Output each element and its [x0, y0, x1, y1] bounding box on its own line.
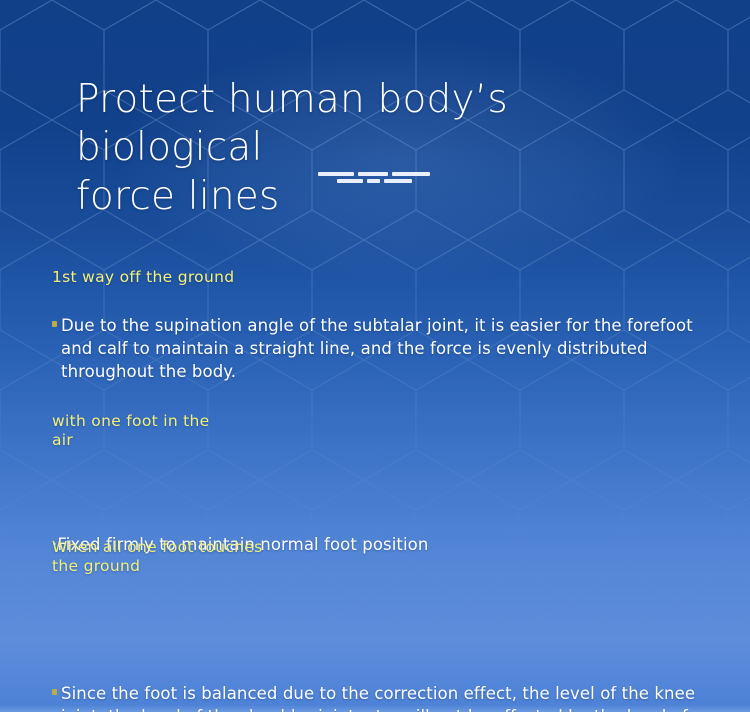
page-title: Protect human body’s biological force li… — [76, 76, 696, 221]
section-heading-3: When all one foot touches the ground — [52, 538, 704, 577]
section-1-body: Due to the supination angle of the subta… — [52, 314, 704, 383]
section-heading-1: 1st way off the ground — [52, 268, 704, 287]
slide-canvas: Protect human body’s biological force li… — [0, 0, 750, 712]
wing-divider-icon — [312, 172, 436, 192]
section-3-body: Since the foot is balanced due to the co… — [52, 682, 704, 712]
section-1-heading-text: 1st way off the ground — [52, 268, 704, 287]
section-3-heading-text: When all one foot touches the ground — [52, 538, 704, 577]
section-heading-2: with one foot in the air — [52, 412, 704, 451]
section-2-heading-text: with one foot in the air — [52, 412, 704, 451]
